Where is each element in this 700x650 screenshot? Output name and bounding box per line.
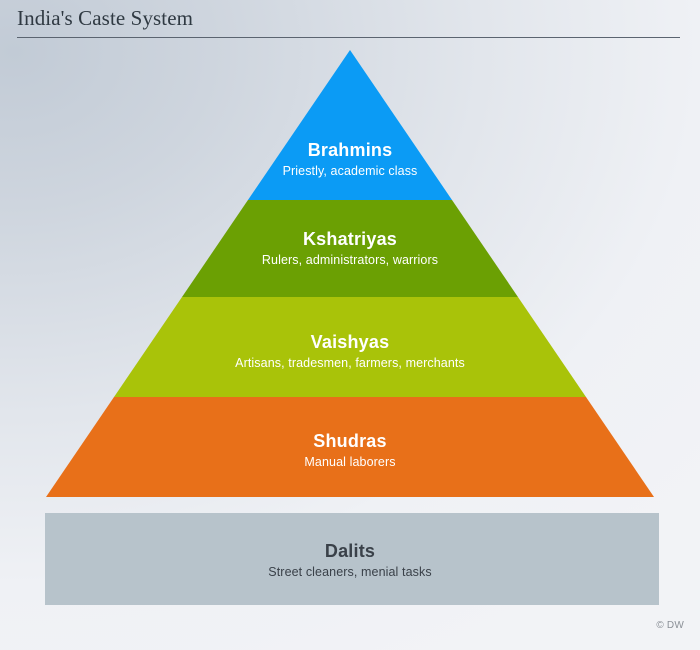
pyramid-svg	[0, 0, 700, 650]
caste-system-infographic: India's Caste System Brahmins Priestly, …	[0, 0, 700, 650]
copyright-credit: © DW	[656, 620, 684, 631]
pyramid-tier-shudras[interactable]	[0, 397, 700, 497]
pyramid-base-block-dalits[interactable]	[45, 513, 659, 605]
pyramid-tier-kshatriyas[interactable]	[0, 200, 700, 297]
pyramid-tier-brahmins[interactable]	[0, 50, 700, 200]
pyramid-tier-vaishyas[interactable]	[0, 297, 700, 397]
pyramid-chart: Brahmins Priestly, academic class Kshatr…	[0, 0, 700, 650]
